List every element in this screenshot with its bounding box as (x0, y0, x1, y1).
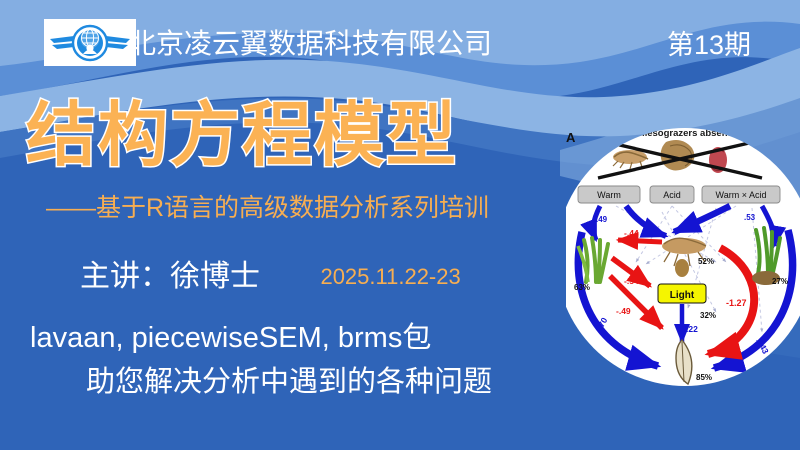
svg-text:85%: 85% (696, 373, 712, 382)
benefit-line: 助您解决分析中遇到的各种问题 (86, 362, 492, 402)
svg-text:-.54: -.54 (624, 276, 639, 286)
sem-top-caption: Mesograzers absent (639, 128, 731, 139)
treatment-box-acid: Acid (650, 186, 694, 203)
page-title: 结构方程模型 (26, 92, 458, 178)
svg-text:.49: .49 (596, 215, 608, 224)
company-name: 北京凌云翼数据科技有限公司 (128, 24, 492, 64)
treatment-box-warm-acid: Warm × Acid (702, 186, 780, 203)
panel-label-a: A (566, 130, 575, 145)
sem-bottom-caption: Benthic microalgal biomass (629, 390, 742, 400)
svg-text:27%: 27% (772, 277, 788, 286)
svg-text:-.44: -.44 (624, 228, 639, 238)
svg-text:-.49: -.49 (616, 306, 631, 316)
packages-line: lavaan, piecewiseSEM, brms包 (30, 318, 431, 358)
issue-badge: 第13期 (667, 26, 751, 64)
svg-text:32%: 32% (700, 311, 716, 320)
company-logo (44, 19, 136, 66)
presenter-name: 主讲：徐博士 (80, 256, 260, 298)
svg-text:.53: .53 (744, 213, 756, 222)
course-date: 2025.11.22-23 (320, 256, 460, 298)
svg-text:Light: Light (670, 290, 695, 301)
sem-path-diagram: Mesograzers absent Warm (566, 112, 800, 402)
svg-text:Warm: Warm (597, 190, 621, 200)
svg-text:Warm × Acid: Warm × Acid (716, 190, 767, 200)
page-subtitle: ——基于R语言的高级数据分析系列培训 (46, 190, 489, 226)
svg-text:52%: 52% (698, 257, 714, 266)
presenter-row: 主讲：徐博士 2025.11.22-23 (80, 256, 461, 298)
poster-header: 北京凌云翼数据科技有限公司 第13期 (0, 0, 800, 92)
light-node: Light (658, 284, 706, 303)
treatment-box-warm: Warm (578, 186, 640, 203)
winged-globe-icon (48, 23, 132, 63)
svg-text:Acid: Acid (663, 190, 681, 200)
svg-text:-1.27: -1.27 (726, 298, 747, 308)
svg-text:63%: 63% (574, 283, 590, 292)
training-poster: Mesograzers absent Warm (0, 0, 800, 450)
svg-text:.22: .22 (686, 324, 698, 334)
